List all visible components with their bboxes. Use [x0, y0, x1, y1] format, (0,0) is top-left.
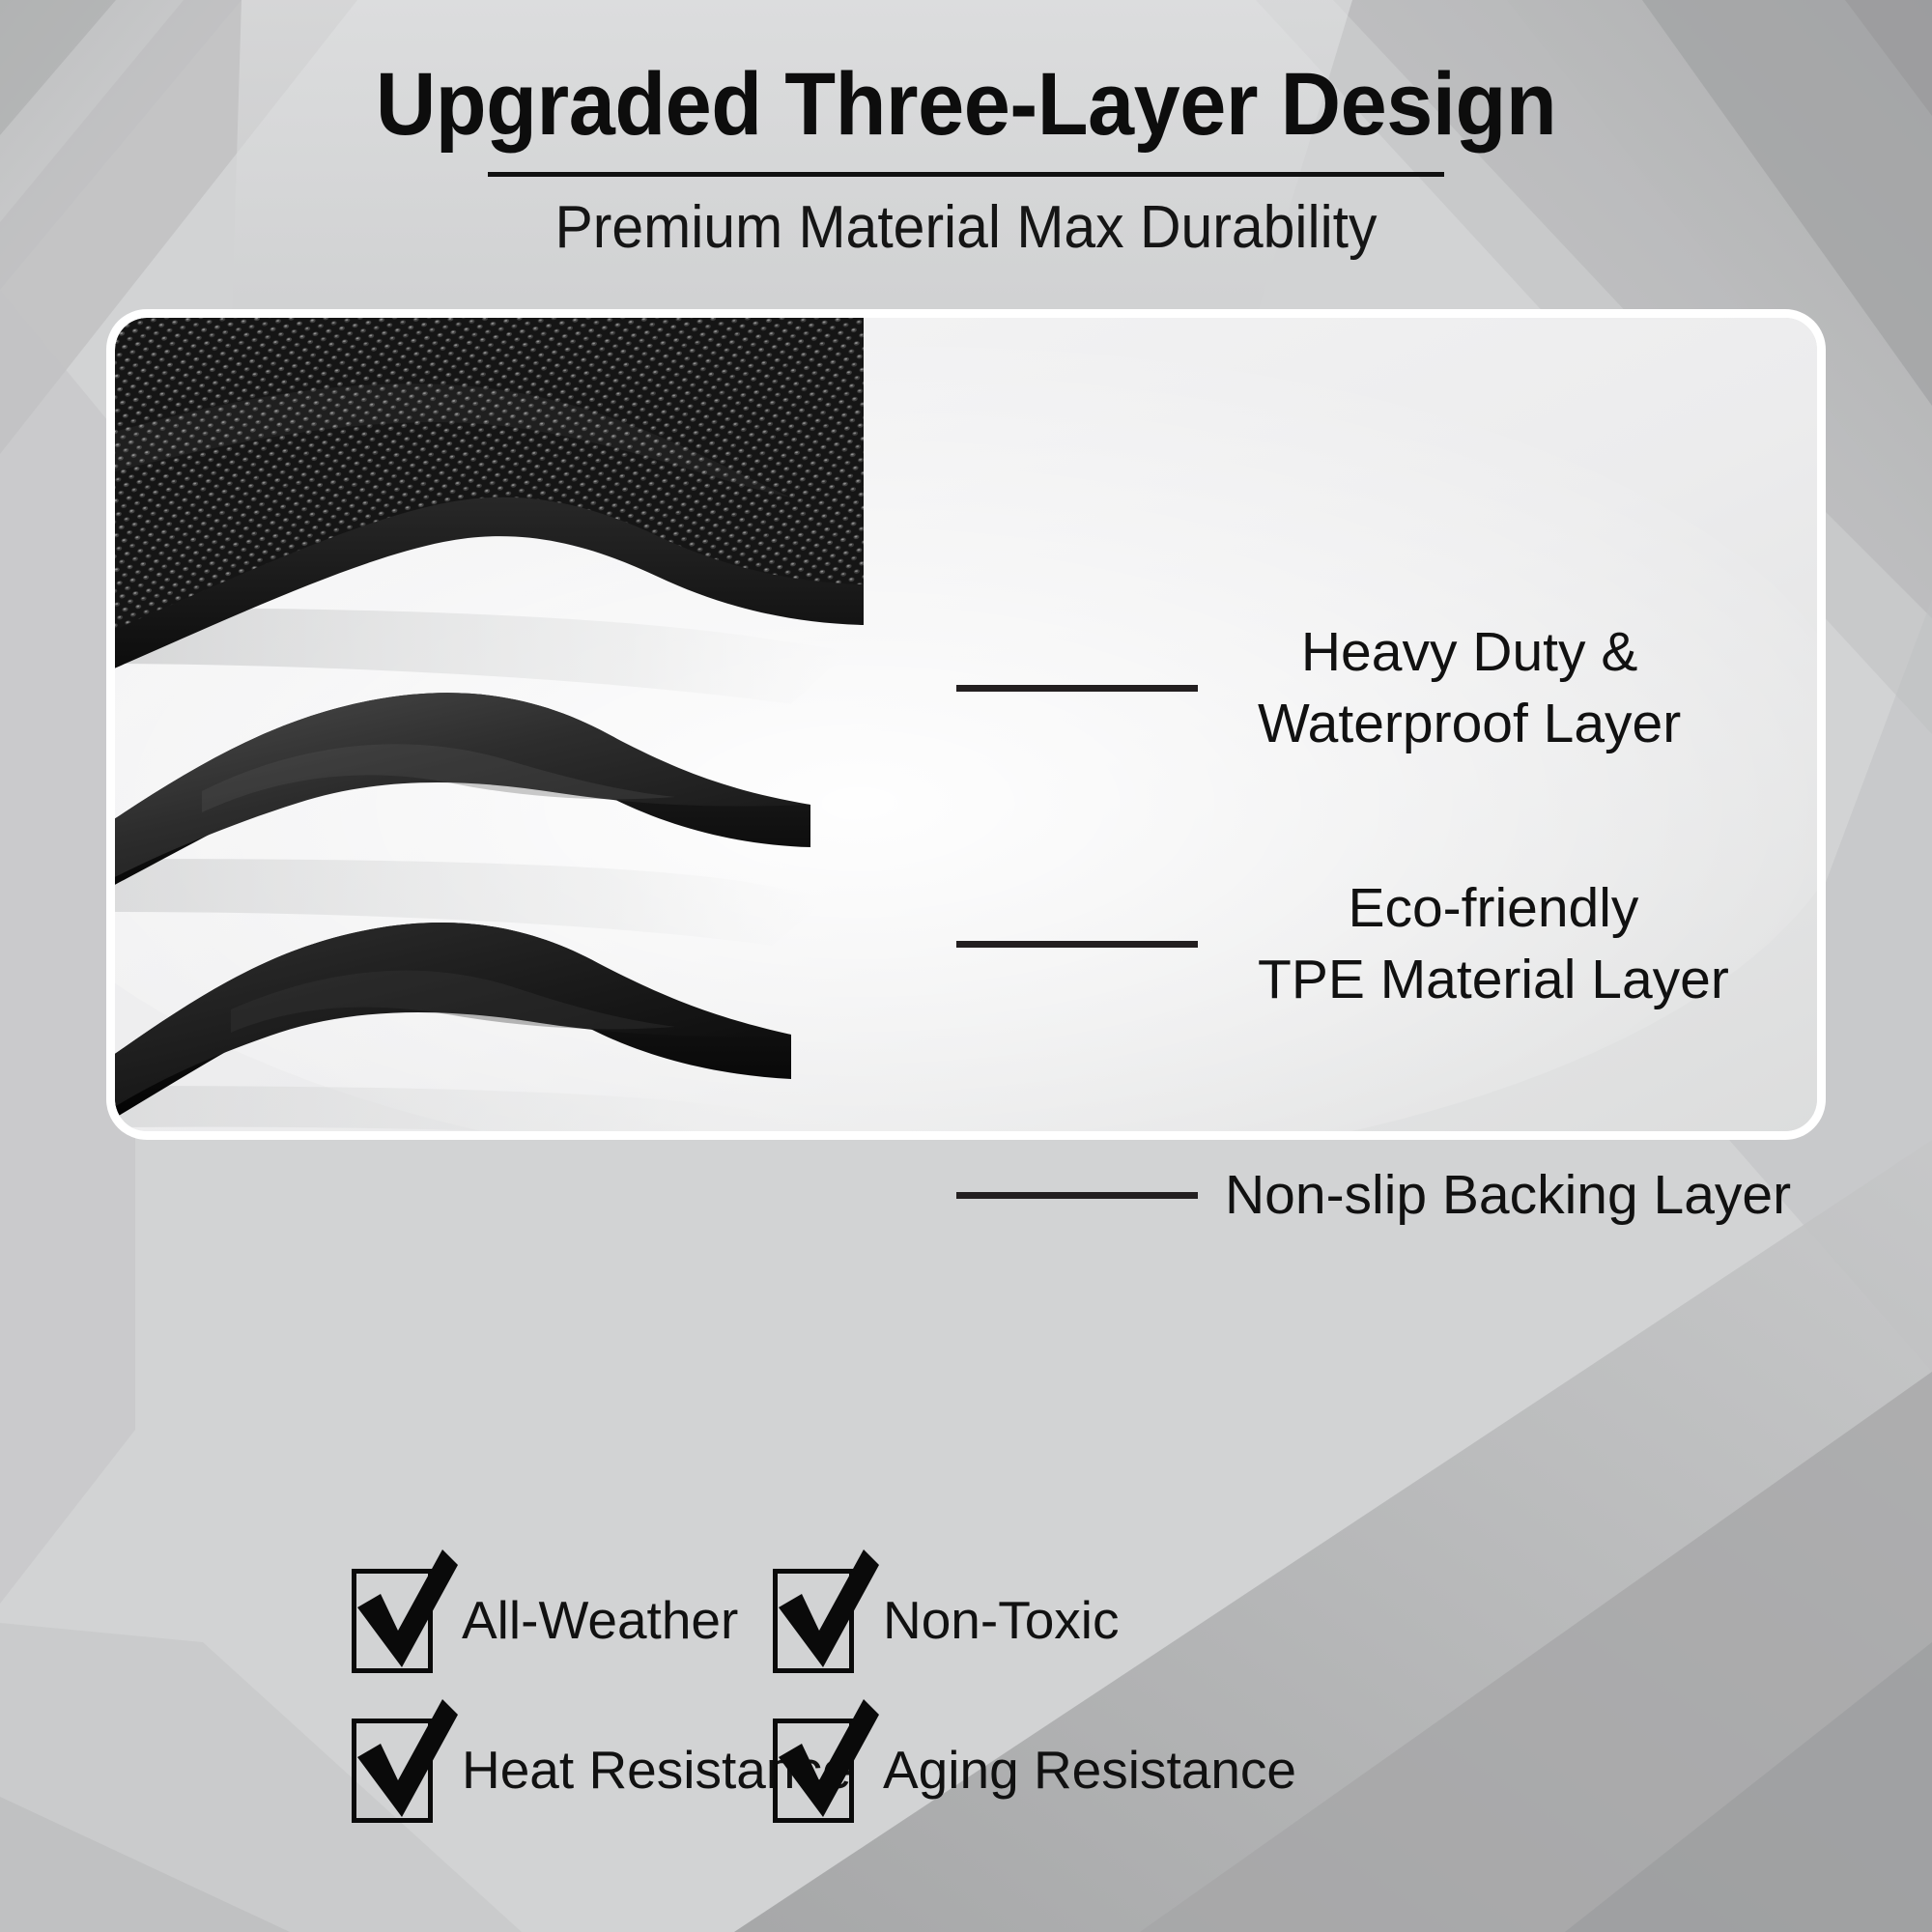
title-divider — [488, 172, 1444, 177]
callout-eco-friendly: Eco-friendly TPE Material Layer — [956, 872, 1729, 1015]
callout-connector-line — [956, 1192, 1198, 1199]
page-subtitle: Premium Material Max Durability — [48, 198, 1884, 258]
checkbox-non-toxic[interactable] — [773, 1569, 854, 1673]
feature-item-non-toxic[interactable]: Non-Toxic — [599, 1546, 1198, 1695]
callout-line-2: Waterproof Layer — [1258, 688, 1681, 759]
feature-row: Heat Resistance Aging Resistance — [0, 1695, 1932, 1845]
feature-label: Aging Resistance — [883, 1744, 1296, 1797]
callout-label: Non-slip Backing Layer — [1225, 1159, 1791, 1231]
checkbox-aging-resistance[interactable] — [773, 1719, 854, 1823]
check-icon — [765, 1697, 881, 1825]
feature-item-all-weather[interactable]: All-Weather — [0, 1546, 599, 1695]
callout-label: Eco-friendly TPE Material Layer — [1258, 872, 1729, 1015]
header: Upgraded Three-Layer Design Premium Mate… — [0, 60, 1932, 258]
callout-connector-line — [956, 685, 1198, 692]
callout-line-2: TPE Material Layer — [1258, 944, 1729, 1015]
feature-item-heat-resistance[interactable]: Heat Resistance — [0, 1695, 599, 1845]
feature-list: All-Weather Non-Toxic — [0, 1546, 1932, 1845]
callout-line-1: Non-slip Backing Layer — [1225, 1159, 1791, 1231]
check-icon — [344, 1697, 460, 1825]
feature-item-aging-resistance[interactable]: Aging Resistance — [599, 1695, 1198, 1845]
feature-label: Non-Toxic — [883, 1594, 1120, 1647]
feature-row: All-Weather Non-Toxic — [0, 1546, 1932, 1695]
check-icon — [765, 1548, 881, 1675]
callout-line-1: Heavy Duty & — [1258, 616, 1681, 688]
infographic-root: Upgraded Three-Layer Design Premium Mate… — [0, 0, 1932, 1932]
page-title: Upgraded Three-Layer Design — [58, 60, 1874, 149]
check-icon — [344, 1548, 460, 1675]
callout-heavy-duty: Heavy Duty & Waterproof Layer — [956, 616, 1681, 759]
callout-non-slip: Non-slip Backing Layer — [956, 1159, 1791, 1231]
checkbox-heat-resistance[interactable] — [352, 1719, 433, 1823]
checkbox-all-weather[interactable] — [352, 1569, 433, 1673]
callout-connector-line — [956, 941, 1198, 948]
callout-label: Heavy Duty & Waterproof Layer — [1258, 616, 1681, 759]
callout-line-1: Eco-friendly — [1258, 872, 1729, 944]
